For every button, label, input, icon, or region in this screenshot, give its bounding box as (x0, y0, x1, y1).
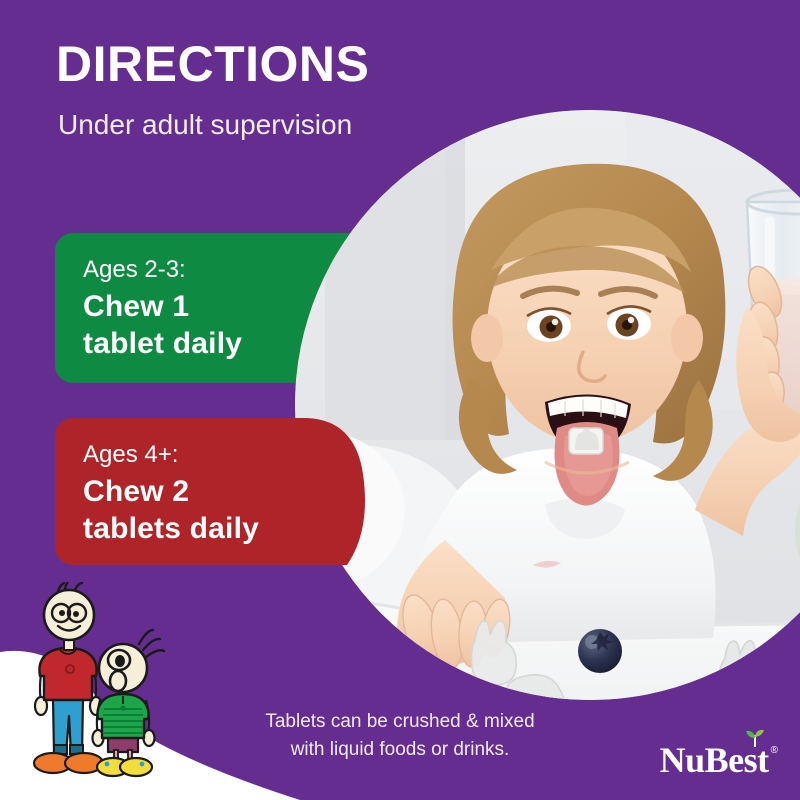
page-title: DIRECTIONS (56, 38, 369, 91)
badge-age-label: Ages 4+: (83, 440, 313, 470)
mascot-short-kid (93, 630, 165, 776)
brand-wordmark: NuBest (660, 742, 769, 778)
page-subtitle: Under adult supervision (58, 108, 352, 142)
blueberry (578, 629, 622, 673)
bottom-caption: Tablets can be crushed & mixed with liqu… (200, 708, 600, 763)
tablet-on-tongue (569, 428, 603, 454)
badge-dose-line-1: Chew 2 (83, 474, 313, 511)
caption-line-1: Tablets can be crushed & mixed (265, 711, 534, 732)
badge-age-label: Ages 2-3: (83, 255, 313, 285)
badge-dose-line-1: Chew 1 (83, 289, 313, 326)
badge-dose-line-2: tablets daily (83, 511, 313, 548)
mascot-tall-kid (34, 582, 103, 773)
product-photo-circle (295, 110, 800, 700)
caption-line-2: with liquid foods or drinks. (291, 739, 510, 760)
animal-tablet-cat (719, 641, 768, 700)
photo-illustration (295, 110, 800, 700)
registered-mark: ® (771, 746, 778, 756)
brand-logo[interactable]: NuBest ® (660, 742, 778, 778)
badge-dose-line-2: tablet daily (83, 326, 313, 363)
leaf-sprout-icon (745, 729, 765, 747)
directions-poster: Ages 2-3: Chew 1 tablet daily Ages 4+: C… (0, 0, 800, 800)
mascot-characters (22, 582, 182, 792)
blueberry-cluster (302, 674, 393, 700)
dosage-badge-ages-4-plus: Ages 4+: Chew 2 tablets daily (55, 418, 375, 565)
